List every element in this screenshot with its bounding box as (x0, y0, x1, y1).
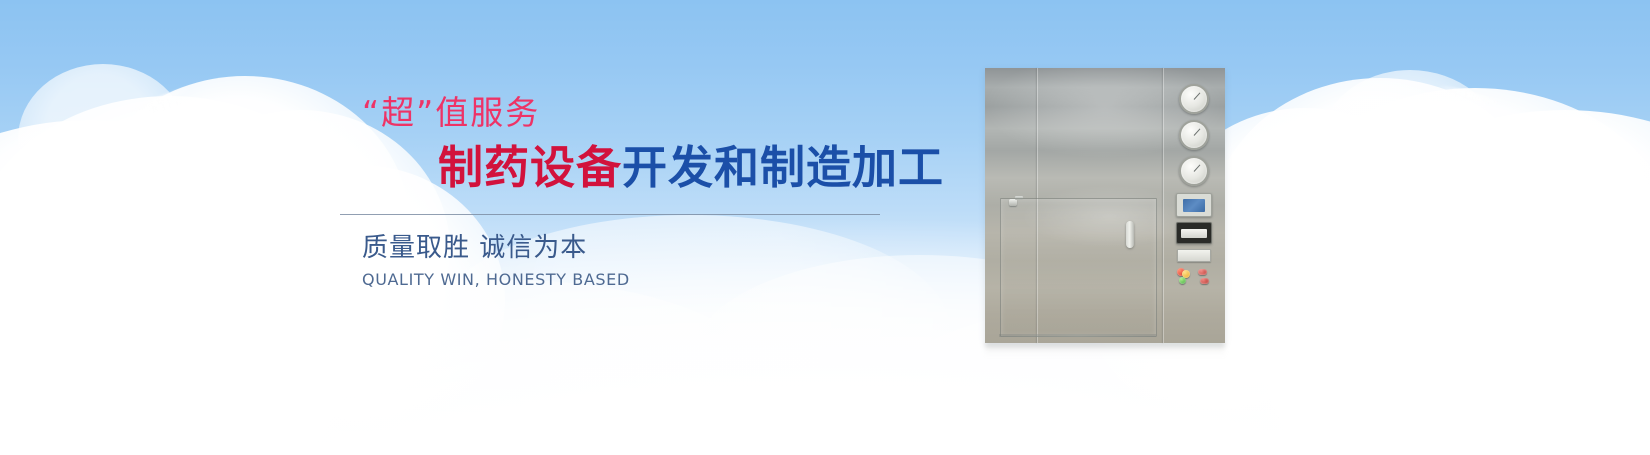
dark-readout-screen-inner (1181, 229, 1207, 238)
control-button-red (1198, 269, 1207, 275)
machine-reflection (985, 343, 1225, 357)
nameplate (1177, 249, 1211, 262)
cabinet-door (1000, 198, 1157, 337)
product-image-sterilizer (985, 68, 1225, 343)
banner-headline: 制药设备开发和制造加工 (438, 145, 960, 190)
cloud-puff-left (18, 64, 188, 214)
banner-subtitle-en: QUALITY WIN, HONESTY BASED (362, 272, 960, 288)
door-base-rail (999, 334, 1156, 337)
cloud-wisp (1436, 82, 1505, 108)
headline-divider (340, 214, 880, 215)
headline-rest: 开发和制造加工 (622, 141, 944, 194)
indicator-light-cluster (1176, 267, 1212, 287)
indicator-light-green (1179, 277, 1186, 284)
cabinet-seam (1163, 68, 1164, 343)
pressure-gauge-icon (1179, 120, 1209, 150)
cloud-puff-right (1270, 88, 1650, 413)
cloud-puff-right (1330, 110, 1650, 450)
cloud-puff-mid (250, 280, 770, 455)
blue-lcd-screen (1176, 193, 1212, 217)
pressure-gauge-icon (1179, 84, 1209, 114)
banner-eyebrow: “超”值服务 (362, 96, 960, 129)
cloud-puff-right (1320, 70, 1500, 220)
cloud-wisp (129, 84, 193, 115)
control-panel (1173, 84, 1215, 287)
cloud-puff-right (1410, 185, 1650, 455)
cloud-puff-left (0, 96, 370, 416)
door-handle (1126, 221, 1134, 248)
dark-readout-screen (1176, 222, 1212, 244)
cloud-puff-left (0, 190, 230, 455)
cloud-wisp (144, 99, 184, 114)
control-button-red (1200, 278, 1209, 284)
blue-lcd-screen-inner (1183, 199, 1205, 212)
pressure-gauge-icon (1179, 156, 1209, 186)
promotional-banner: “超”值服务 制药设备开发和制造加工 质量取胜 诚信为本 QUALITY WIN… (0, 0, 1650, 455)
cloud-puff-right (1210, 78, 1550, 378)
cloud-puff-right (1220, 230, 1650, 455)
cloud-puff-left (0, 120, 320, 450)
banner-subtitle-cn: 质量取胜 诚信为本 (362, 235, 960, 261)
headline-highlight: 制药设备 (438, 141, 622, 194)
banner-text-block: “超”值服务 制药设备开发和制造加工 质量取胜 诚信为本 QUALITY WIN… (340, 96, 960, 288)
